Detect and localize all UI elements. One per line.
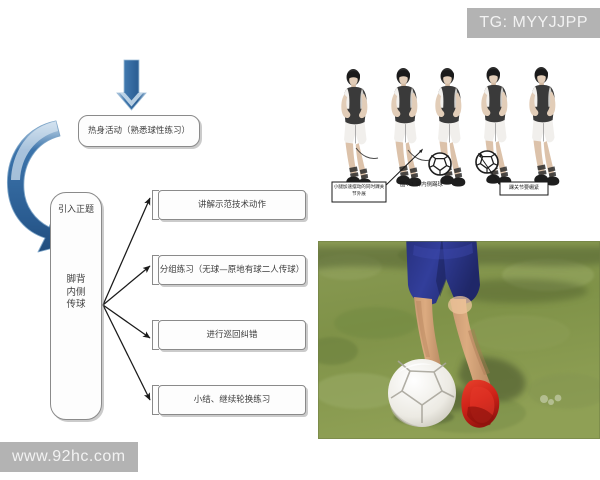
figure-callout-left-label: 小腿加速摆动的同时踝关节外展 (333, 183, 385, 198)
flow-step-group-practice[interactable]: 分组练习（无球—原地有球二人传球） (158, 255, 306, 285)
flow-step-error-correction[interactable]: 进行巡回纠错 (158, 320, 306, 350)
flow-step-0-label: 讲解示范技术动作 (198, 200, 266, 211)
down-arrow-icon (117, 60, 146, 110)
flow-node-warmup[interactable]: 热身活动（熟悉球性练习） (78, 115, 200, 147)
flow-step-summary[interactable]: 小结、继续轮换练习 (158, 385, 306, 415)
flow-step-demonstration[interactable]: 讲解示范技术动作 (158, 190, 306, 220)
technique-illustration: 小腿加速摆动的同时踝关节外展 图4-1 脚内侧踢球 踝关节要绷紧 (322, 52, 590, 212)
flow-step-3-label: 小结、继续轮换练习 (194, 395, 271, 406)
flow-node-main-label-top: 引入正题 (58, 205, 94, 216)
step-connectors (103, 198, 150, 400)
flow-step-1-label: 分组练习（无球—原地有球二人传球） (160, 265, 305, 276)
flow-node-warmup-label: 热身活动（熟悉球性练习） (88, 126, 190, 137)
flow-node-main-label-technique: 脚背内侧传球 (63, 274, 89, 311)
figure-caption: 图4-1 脚内侧踢球 (400, 180, 480, 188)
flow-node-main-topic[interactable]: 引入正题 脚背内侧传球 (50, 192, 102, 420)
photo-soccer-ball (388, 359, 456, 427)
figure-callout-right-label: 踝关节要绷紧 (501, 183, 547, 191)
watermark-bottom-left: www.92hc.com (0, 442, 138, 472)
figure-ball-2 (476, 151, 498, 173)
screenshot-canvas: 热身活动（熟悉球性练习） 引入正题 脚背内侧传球 讲解示范技术动作 分组练习（无… (0, 0, 600, 480)
watermark-top-right: TG: MYYJJPP (467, 8, 600, 38)
flow-step-2-label: 进行巡回纠错 (206, 330, 257, 341)
figure-ball-1 (429, 153, 451, 175)
technique-photo (318, 241, 600, 439)
